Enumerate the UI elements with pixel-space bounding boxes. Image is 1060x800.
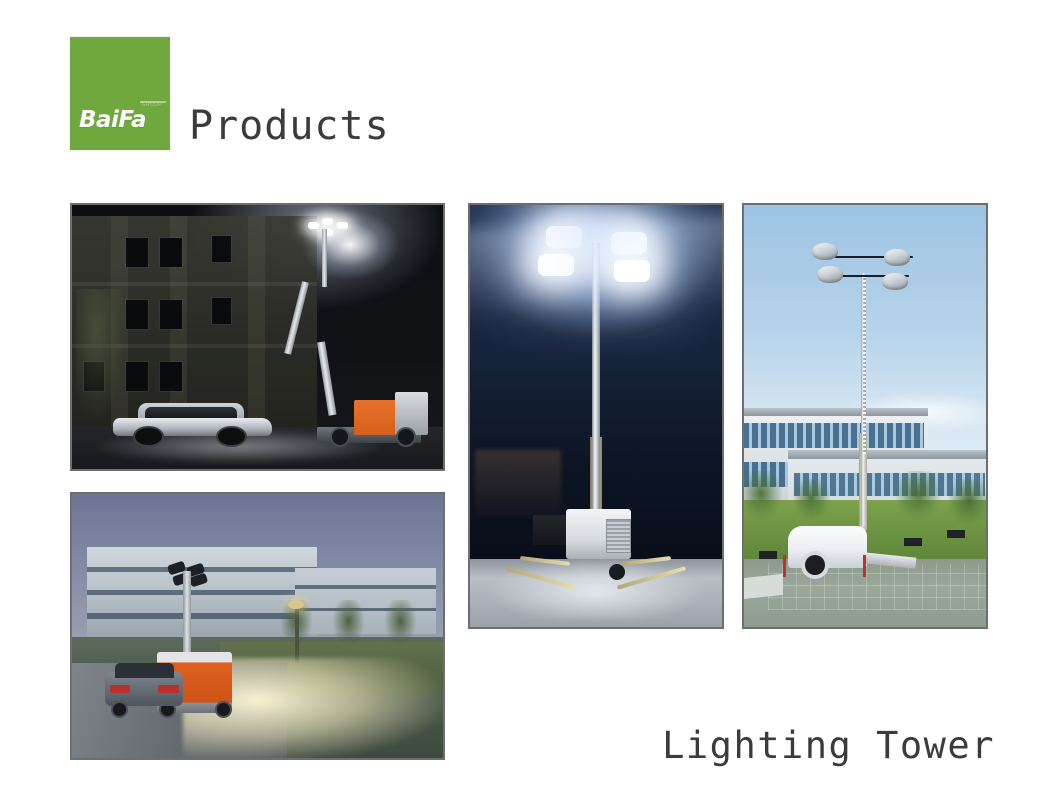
slide-root: GROUP BaiFa Products [0, 0, 1060, 800]
control-cabinet [395, 392, 428, 434]
floodlight [546, 226, 582, 248]
floodlight [322, 218, 333, 225]
photo-dusk-towed-trailer [70, 492, 445, 760]
tree-cluster [744, 471, 783, 522]
baifa-logo: GROUP BaiFa [70, 37, 170, 150]
floodlight [884, 249, 910, 266]
floodlight [614, 260, 650, 282]
telescopic-mast [592, 243, 600, 513]
stabiliser-leg [783, 555, 786, 577]
mast-upper [322, 229, 327, 287]
floodlight [538, 254, 574, 276]
street-lamp-head [288, 600, 304, 609]
light-pool [490, 559, 702, 618]
floodlight [611, 232, 647, 254]
ground-marker [759, 551, 777, 559]
tree-cluster [384, 600, 417, 648]
footer-title: Lighting Tower [662, 724, 995, 767]
photo-night-vertical-mast [468, 203, 724, 629]
radiator-grille [606, 519, 631, 553]
lamp-glow [302, 210, 398, 279]
floodlight [308, 222, 319, 229]
suv-vehicle [113, 403, 273, 445]
ground-marker [904, 538, 922, 546]
trailer-wheel [217, 703, 230, 716]
floodlight [882, 273, 908, 290]
photo-night-suv-boom-tower [70, 203, 445, 471]
stabiliser-leg [863, 555, 866, 577]
tree-cluster [792, 479, 831, 521]
trailer-wheel [609, 564, 625, 580]
trailer-wheel [332, 429, 348, 445]
telescopic-mast [183, 571, 191, 658]
mast-lattice [863, 277, 866, 454]
tree-cluster [894, 471, 942, 522]
floodlight [812, 243, 838, 260]
tree-cluster [332, 600, 365, 648]
floodlight [817, 266, 843, 283]
logo-wordmark: BaiFa [79, 109, 146, 132]
ground-marker [947, 530, 965, 538]
street-lamp-post [295, 605, 299, 663]
floodlight [337, 222, 348, 229]
tree-cluster [947, 479, 986, 525]
paver-grid [768, 564, 986, 610]
suv-wheel [113, 703, 126, 716]
trailer-wheel [805, 555, 825, 575]
photo-daylight-tower [742, 203, 988, 629]
page-title: Products [189, 103, 390, 149]
trailer-canopy [788, 526, 868, 568]
background-structures [475, 450, 561, 518]
